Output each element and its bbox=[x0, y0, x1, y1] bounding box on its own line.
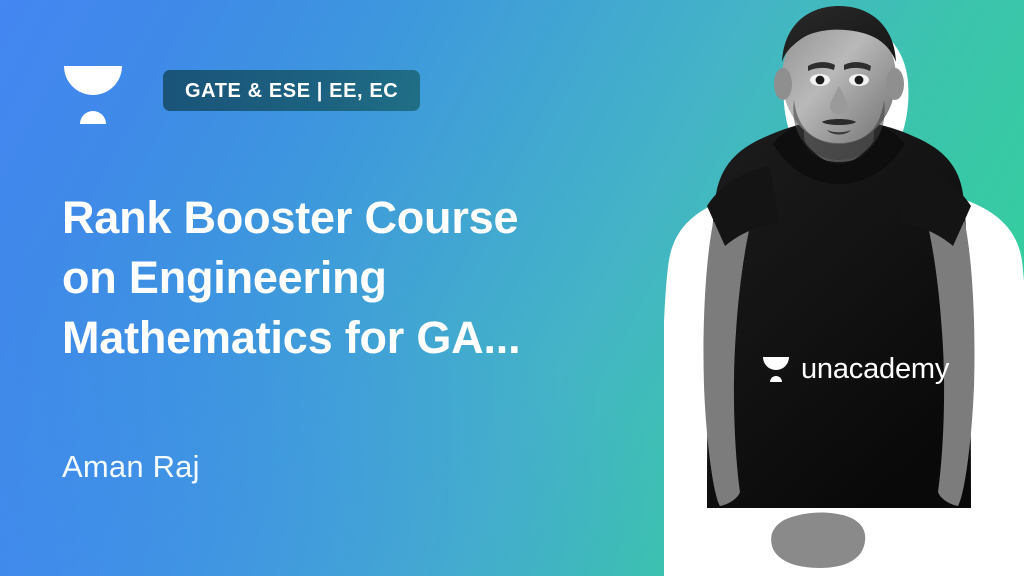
hands bbox=[771, 513, 865, 568]
course-title-line-3: Mathematics for GA... bbox=[62, 308, 682, 368]
tshirt-unacademy-brand: unacademy bbox=[762, 352, 968, 386]
category-badge[interactable]: GATE & ESE | EE, EC bbox=[163, 70, 420, 111]
course-title: Rank Booster Course on Engineering Mathe… bbox=[62, 188, 682, 368]
unacademy-logo-icon bbox=[762, 354, 790, 384]
unacademy-logo[interactable] bbox=[62, 60, 124, 128]
instructor-name: Aman Raj bbox=[62, 448, 200, 485]
course-thumbnail-card: GATE & ESE | EE, EC Rank Booster Course … bbox=[0, 0, 1024, 576]
category-badge-label: GATE & ESE | EE, EC bbox=[185, 81, 398, 101]
ear-right bbox=[886, 68, 904, 100]
instructor-photo: unacademy bbox=[664, 0, 1024, 576]
ear-left bbox=[774, 68, 792, 100]
course-title-line-2: on Engineering bbox=[62, 248, 682, 308]
tshirt-brand-word: unacademy bbox=[801, 355, 949, 384]
course-title-line-1: Rank Booster Course bbox=[62, 188, 682, 248]
